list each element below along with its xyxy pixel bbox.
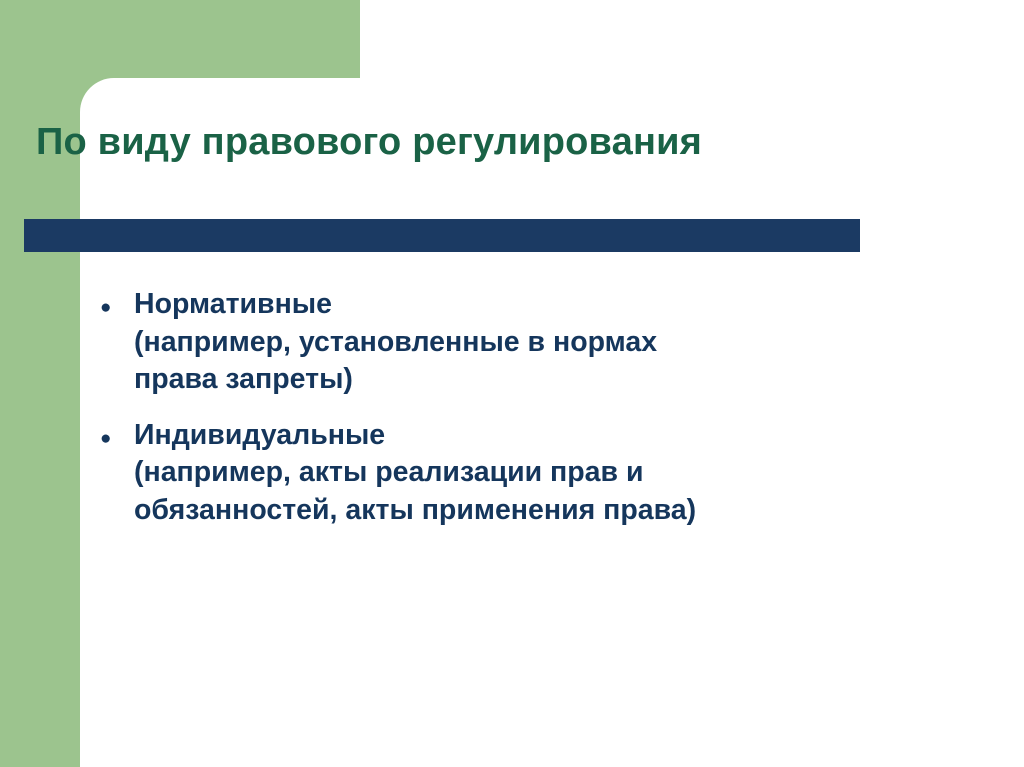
slide: По виду правового регулирования ● Нормат… bbox=[0, 0, 1024, 767]
list-item: ● Нормативные (например, установленные в… bbox=[100, 286, 960, 399]
list-item-text: Индивидуальные (например, акты реализаци… bbox=[134, 417, 960, 530]
bullet-list: ● Нормативные (например, установленные в… bbox=[100, 286, 960, 548]
bullet-dot-icon: ● bbox=[100, 286, 134, 317]
list-item-text: Нормативные (например, установленные в н… bbox=[134, 286, 960, 399]
title-underline-bar bbox=[24, 219, 860, 252]
list-item: ● Индивидуальные (например, акты реализа… bbox=[100, 417, 960, 530]
slide-title: По виду правового регулирования bbox=[36, 122, 936, 164]
bullet-dot-icon: ● bbox=[100, 417, 134, 448]
